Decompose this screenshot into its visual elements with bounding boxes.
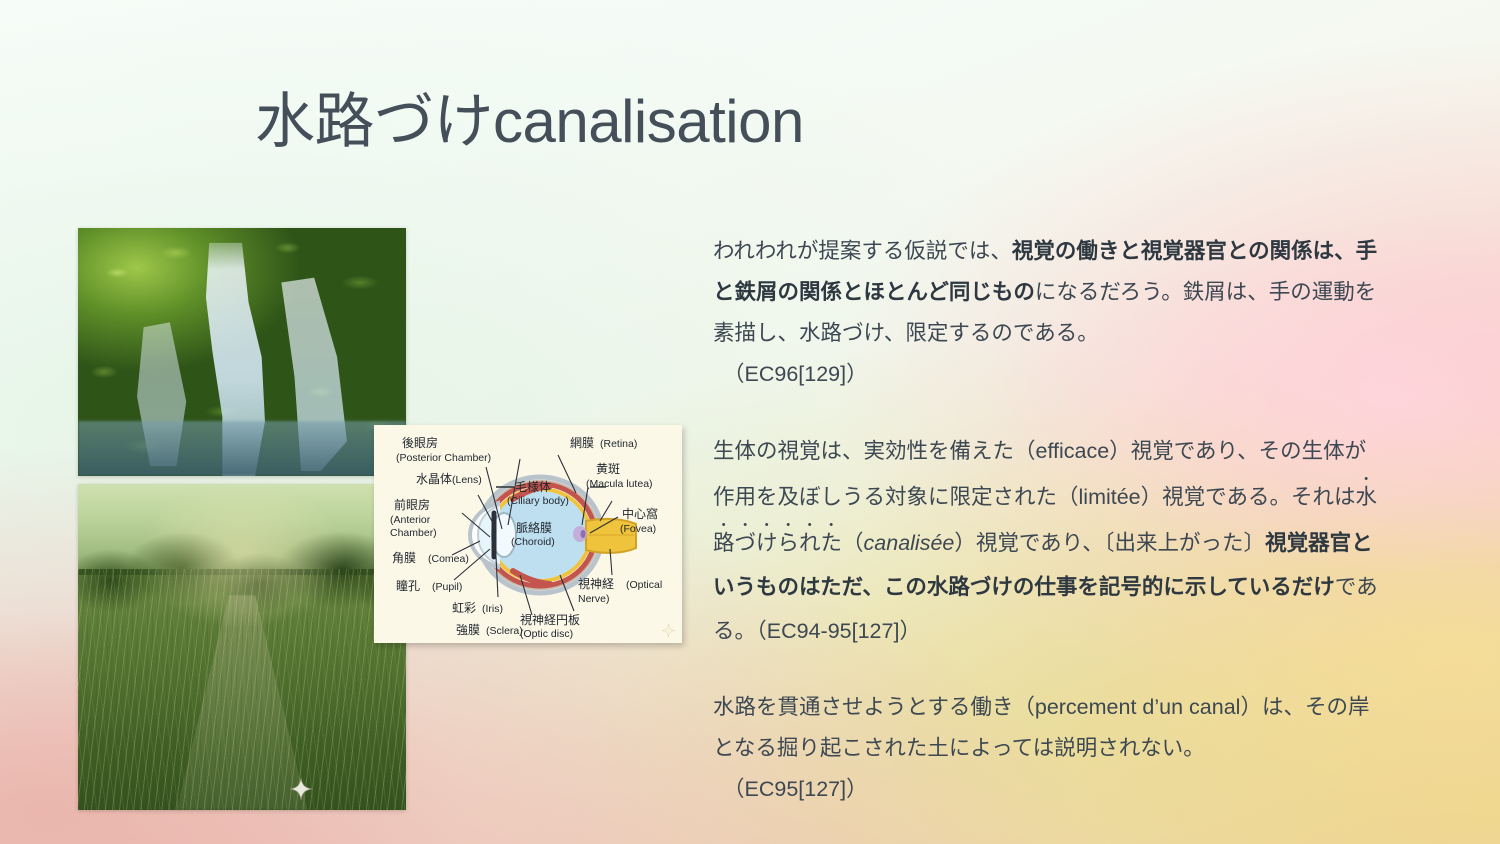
label-iris-en: (Iris) bbox=[482, 603, 503, 615]
label-macula-ja: 黄斑 bbox=[596, 462, 620, 476]
p2-run5: ）視覚である。それは bbox=[1141, 485, 1356, 509]
label-anterior-chamber-ja: 前眼房 bbox=[394, 497, 430, 512]
sparkle-icon bbox=[290, 778, 312, 800]
p3-citation: （EC95[127]） bbox=[713, 769, 1385, 810]
p2-citation: （EC94-95[127]） bbox=[756, 619, 921, 643]
page-title: 水路づけcanalisation bbox=[255, 73, 804, 160]
label-fovea-en: (Fovea) bbox=[620, 523, 656, 535]
label-pupil-ja: 瞳孔 bbox=[396, 578, 420, 593]
label-optic-nerve-en2: Nerve) bbox=[578, 593, 610, 605]
label-sclera-ja: 強膜 bbox=[456, 623, 480, 637]
p3-run1: 水路を貫通させようとする働き（ bbox=[713, 695, 1035, 719]
label-choroid-en: (Choroid) bbox=[511, 536, 555, 548]
label-optic-nerve-en1: (Optical bbox=[626, 579, 662, 591]
label-lens-ja: 水晶体 bbox=[416, 472, 452, 486]
label-macula-en: (Macula lutea) bbox=[586, 478, 653, 490]
label-fovea-ja: 中心窩 bbox=[622, 506, 658, 521]
p2-run8-canalisee: canalisée bbox=[864, 531, 955, 555]
label-optic-disc-en: (Optic disc) bbox=[520, 628, 573, 640]
body-text-column: われわれが提案する仮説では、視覚の働きと視覚器官との関係は、手と鉄屑の関係とほと… bbox=[713, 231, 1385, 810]
waterfall-pool bbox=[78, 421, 406, 476]
label-cornea-ja: 角膜 bbox=[392, 551, 416, 565]
label-ciliary-body-en: (Ciliary body) bbox=[507, 495, 569, 507]
p1-citation: （EC96[129]） bbox=[713, 354, 1385, 395]
label-anterior-chamber-en1: (Anterior bbox=[390, 514, 431, 526]
label-choroid-ja: 脈絡膜 bbox=[516, 520, 552, 535]
paragraph-2: 生体の視覚は、実効性を備えた（efficace）視覚であり、その生体が作用を及ぼ… bbox=[713, 429, 1385, 653]
paragraph-3: 水路を貫通させようとする働き（percement d’un canal）は、その… bbox=[713, 687, 1385, 810]
label-iris-ja: 虹彩 bbox=[452, 601, 476, 615]
slide-canvas: 水路づけcanalisation bbox=[0, 0, 1500, 844]
p2-run9: ）視覚であり、〔出来上がった〕 bbox=[954, 531, 1265, 555]
p2-run7: （ bbox=[842, 531, 864, 555]
label-cornea-en: (Comea) bbox=[428, 553, 469, 565]
paragraph-1: われわれが提案する仮説では、視覚の働きと視覚器官との関係は、手と鉄屑の関係とほと… bbox=[713, 231, 1385, 395]
p3-run2-percement: percement d’un canal bbox=[1035, 695, 1241, 719]
p2-run1: 生体の視覚は、実効性を備えた（ bbox=[713, 439, 1036, 463]
grass-sun-glow bbox=[78, 484, 406, 810]
p1-run1: われわれが提案する仮説では、 bbox=[713, 239, 1012, 263]
label-pupil-en: (Pupil) bbox=[432, 581, 462, 593]
label-optic-disc-ja: 視神経円板 bbox=[520, 612, 580, 627]
p2-run2-efficace: efficace bbox=[1036, 439, 1110, 463]
label-optic-nerve-ja: 視神経 bbox=[578, 576, 614, 591]
label-ciliary-body-ja: 毛様体 bbox=[515, 480, 551, 494]
label-posterior-chamber-ja: 後眼房 bbox=[402, 435, 438, 450]
eye-diagram-svg: 後眼房 (Posterior Chamber) 水晶体 (Lens) 前眼房 (… bbox=[374, 425, 682, 643]
sparkle-icon bbox=[662, 624, 675, 637]
p2-run4-limitee: limitée bbox=[1079, 485, 1141, 509]
label-retina-ja: 網膜 bbox=[570, 436, 594, 450]
label-lens-en: (Lens) bbox=[452, 474, 482, 486]
label-retina-en: (Retina) bbox=[600, 438, 637, 450]
label-posterior-chamber-en: (Posterior Chamber) bbox=[396, 452, 491, 464]
grass-path-photo bbox=[78, 484, 406, 810]
eye-anatomy-diagram: 後眼房 (Posterior Chamber) 水晶体 (Lens) 前眼房 (… bbox=[374, 425, 682, 643]
label-anterior-chamber-en2: Chamber) bbox=[390, 527, 437, 539]
label-sclera-en: (Sclera) bbox=[486, 625, 523, 637]
waterfall-photo bbox=[78, 228, 406, 476]
